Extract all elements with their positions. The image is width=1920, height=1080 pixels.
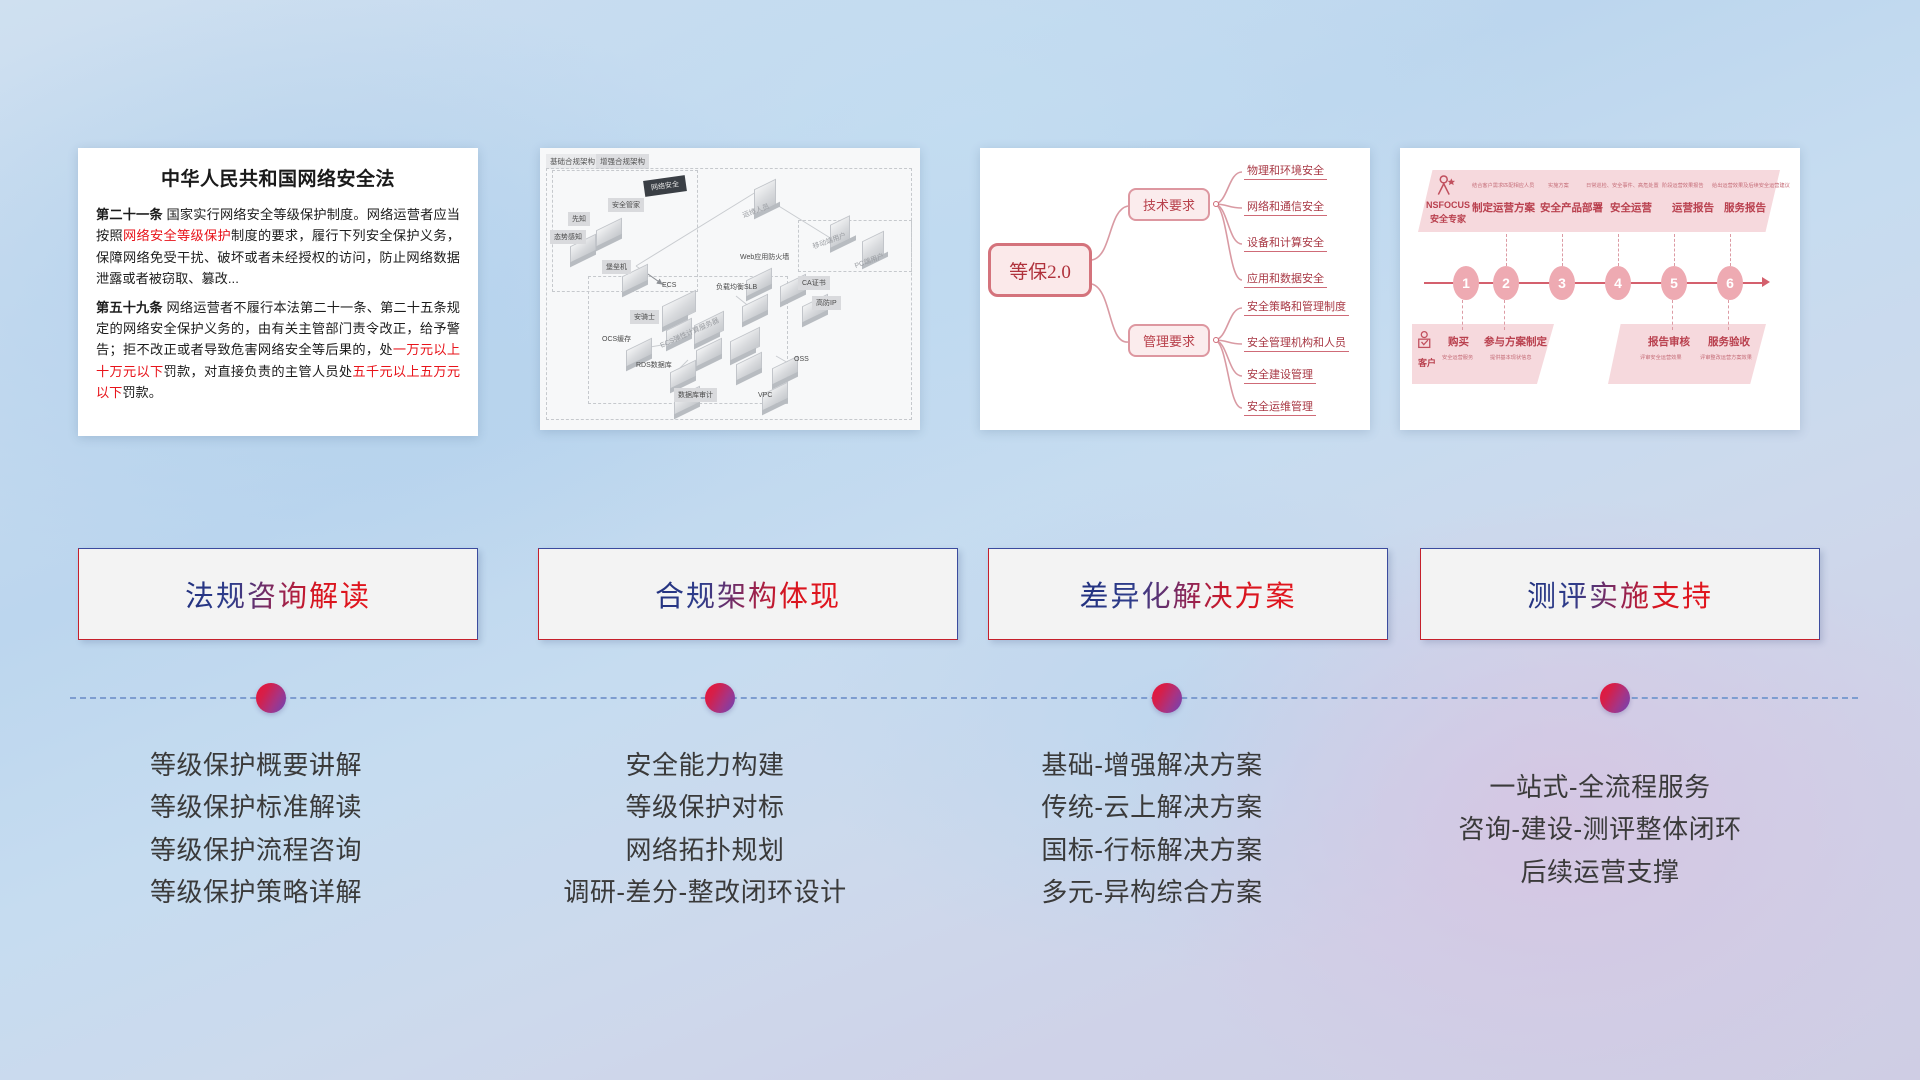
- mindmap-leaf-network: 网络和通信安全: [1244, 198, 1327, 216]
- list-item: 咨询-建设-测评整体闭环: [1415, 808, 1785, 850]
- top-title-1: 制定运营方案: [1472, 200, 1535, 215]
- bottom-title-4: 服务验收: [1708, 334, 1750, 349]
- connector-top-5: [1674, 234, 1675, 266]
- top-title-3: 安全运营: [1610, 200, 1652, 215]
- article-21-highlight: 网络安全等级保护: [123, 228, 231, 243]
- mindmap-leaf-org: 安全管理机构和人员: [1244, 334, 1349, 352]
- list-column-4: 一站式-全流程服务 咨询-建设-测评整体闭环 后续运营支撑: [1415, 766, 1785, 893]
- arch-label-waf: Web应用防火墙: [740, 252, 789, 262]
- list-column-1: 等级保护概要讲解 等级保护标准解读 等级保护流程咨询 等级保护策略详解: [71, 744, 441, 914]
- timeline-marker-2[interactable]: [705, 683, 735, 713]
- bottom-sub-3: 评审安全运营效果: [1640, 354, 1682, 361]
- card-mindmap: 等保2.0 技术要求 物理和环境安全 网络和通信安全 设备和计算安全 应用和数据…: [980, 148, 1370, 430]
- connector-top-2: [1506, 234, 1507, 266]
- article-21-label: 第二十一条: [96, 207, 163, 222]
- timeline-node-4: 4: [1605, 266, 1631, 300]
- list-item: 后续运营支撑: [1415, 851, 1785, 893]
- arch-label-dbaudit: 数据库审计: [674, 388, 717, 402]
- customer-person-icon: [1416, 328, 1438, 354]
- timeline-node-5: 5: [1661, 266, 1687, 300]
- mindmap-canvas: 等保2.0 技术要求 物理和环境安全 网络和通信安全 设备和计算安全 应用和数据…: [980, 148, 1370, 430]
- mindmap-leaf-physical: 物理和环境安全: [1244, 162, 1327, 180]
- top-title-4: 运营报告: [1672, 200, 1714, 215]
- bottom-title-2: 参与方案制定: [1484, 334, 1547, 349]
- arch-label-rds: RDS数据库: [636, 360, 672, 370]
- card-service-timeline: NSFOCUS 安全专家 客户 结合客户需求匹配相应人员 制定运营方案 实施方案…: [1400, 148, 1800, 430]
- title-label-3: 差异化解决方案: [1079, 573, 1296, 615]
- top-title-2: 安全产品部署: [1540, 200, 1603, 215]
- connector-bottom-5: [1672, 300, 1673, 330]
- connector-top-3: [1562, 234, 1563, 266]
- mindmap-leaf-construction: 安全建设管理: [1244, 366, 1316, 384]
- law-title: 中华人民共和国网络安全法: [96, 164, 460, 191]
- title-box-differentiated-solution[interactable]: 差异化解决方案: [988, 548, 1388, 640]
- timeline-node-2: 2: [1493, 266, 1519, 300]
- timeline-node-1: 1: [1453, 266, 1479, 300]
- timeline-arrow-icon: [1762, 277, 1770, 287]
- mindmap-dot-management: [1213, 337, 1219, 343]
- arch-label-gaofang: 高防IP: [812, 296, 841, 310]
- top-sub-5: 给出运营效果及后续安全运营建议: [1712, 182, 1790, 189]
- law-article-59: 第五十九条 网络运营者不履行本法第二十一条、第二十五条规定的网络安全保护义务的，…: [96, 297, 460, 404]
- mindmap-branch-management: 管理要求: [1128, 324, 1210, 357]
- vendor-label-line2: 安全专家: [1430, 212, 1466, 225]
- timeline-node-6: 6: [1717, 266, 1743, 300]
- mindmap-leaf-application: 应用和数据安全: [1244, 270, 1327, 288]
- list-item: 国标-行标解决方案: [967, 829, 1337, 871]
- cards-row: 中华人民共和国网络安全法 第二十一条 国家实行网络安全等级保护制度。网络运营者应…: [0, 148, 1920, 448]
- top-sub-3: 日常巡检、安全事件、高危处置: [1586, 182, 1659, 189]
- list-item: 安全能力构建: [520, 744, 890, 786]
- timeline-marker-1[interactable]: [256, 683, 286, 713]
- arch-label-anquanguanjia: 安全管家: [608, 198, 644, 212]
- article-59-text-b: 罚款，对直接负责的主管人员处: [163, 364, 352, 379]
- timeline-marker-4[interactable]: [1600, 683, 1630, 713]
- slide-root: 中华人民共和国网络安全法 第二十一条 国家实行网络安全等级保护制度。网络运营者应…: [0, 0, 1920, 1080]
- timeline-marker-3[interactable]: [1152, 683, 1182, 713]
- connector-top-4: [1618, 234, 1619, 266]
- mindmap-root: 等保2.0: [988, 243, 1092, 297]
- mindmap-leaf-policy: 安全策略和管理制度: [1244, 298, 1349, 316]
- list-item: 基础-增强解决方案: [967, 744, 1337, 786]
- customer-label: 客户: [1418, 356, 1436, 369]
- connector-top-6: [1730, 234, 1731, 266]
- arch-label-xianzhi: 先知: [568, 212, 590, 226]
- list-item: 一站式-全流程服务: [1415, 766, 1785, 808]
- list-item: 等级保护流程咨询: [71, 829, 441, 871]
- timeline-node-3: 3: [1549, 266, 1575, 300]
- title-box-regulation-consulting[interactable]: 法规咨询解读: [78, 548, 478, 640]
- vendor-person-icon: [1434, 174, 1460, 200]
- list-item: 等级保护对标: [520, 786, 890, 828]
- title-label-2: 合规架构体现: [655, 573, 841, 615]
- list-item: 调研-差分-整改闭环设计: [520, 871, 890, 913]
- bottom-title-1: 购买: [1448, 334, 1469, 349]
- top-sub-2: 实施方案: [1548, 182, 1569, 189]
- arch-label-shishiganzhi: 态势感知: [550, 230, 586, 244]
- arch-label-anqishi: 安骑士: [630, 310, 659, 324]
- list-column-3: 基础-增强解决方案 传统-云上解决方案 国标-行标解决方案 多元-异构综合方案: [967, 744, 1337, 914]
- arch-label-ca: CA证书: [798, 276, 830, 290]
- top-sub-1: 结合客户需求匹配相应人员: [1472, 182, 1534, 189]
- service-timeline-canvas: NSFOCUS 安全专家 客户 结合客户需求匹配相应人员 制定运营方案 实施方案…: [1400, 148, 1800, 430]
- card-architecture-diagram: 基础合规架构 增强合规架构: [540, 148, 920, 430]
- dashed-timeline: [70, 697, 1858, 699]
- arch-label-ocs: OCS缓存: [602, 334, 631, 344]
- title-box-assessment-support[interactable]: 测评实施支持: [1420, 548, 1820, 640]
- mindmap-dot-technical: [1213, 201, 1219, 207]
- mindmap-leaf-device: 设备和计算安全: [1244, 234, 1327, 252]
- connector-bottom-2: [1504, 300, 1505, 330]
- list-item: 多元-异构综合方案: [967, 871, 1337, 913]
- connector-bottom-1: [1462, 300, 1463, 330]
- arch-label-vpc: VPC: [758, 392, 772, 399]
- vendor-label-line1: NSFOCUS: [1426, 200, 1470, 210]
- list-item: 等级保护策略详解: [71, 871, 441, 913]
- bottom-sub-4: 评审整改运营方案效果: [1700, 354, 1752, 361]
- arch-label-ecs: ECS: [662, 282, 676, 289]
- article-59-label: 第五十九条: [96, 300, 163, 315]
- title-label-4: 测评实施支持: [1527, 573, 1713, 615]
- title-box-compliance-architecture[interactable]: 合规架构体现: [538, 548, 958, 640]
- connector-bottom-6: [1728, 300, 1729, 330]
- arch-label-slb: 负载均衡SLB: [716, 282, 757, 292]
- mindmap-branch-technical: 技术要求: [1128, 188, 1210, 221]
- law-article-21: 第二十一条 国家实行网络安全等级保护制度。网络运营者应当按照网络安全等级保护制度…: [96, 204, 460, 290]
- bottom-title-3: 报告审核: [1648, 334, 1690, 349]
- card-law-text: 中华人民共和国网络安全法 第二十一条 国家实行网络安全等级保护制度。网络运营者应…: [78, 148, 478, 436]
- mindmap-leaf-operations: 安全运维管理: [1244, 398, 1316, 416]
- list-item: 网络拓扑规划: [520, 829, 890, 871]
- arch-label-baoleiji: 堡垒机: [602, 260, 631, 274]
- list-item: 等级保护概要讲解: [71, 744, 441, 786]
- arch-label-oss: OSS: [794, 356, 809, 363]
- bottom-sub-2: 提供基本现状信息: [1490, 354, 1532, 361]
- list-item: 等级保护标准解读: [71, 786, 441, 828]
- title-label-1: 法规咨询解读: [185, 573, 371, 615]
- top-sub-4: 阶段运营效果报告: [1662, 182, 1704, 189]
- list-item: 传统-云上解决方案: [967, 786, 1337, 828]
- top-title-5: 服务报告: [1724, 200, 1766, 215]
- bottom-sub-1: 安全运营服务: [1442, 354, 1473, 361]
- article-59-text-c: 罚款。: [122, 385, 162, 400]
- list-column-2: 安全能力构建 等级保护对标 网络拓扑规划 调研-差分-整改闭环设计: [520, 744, 890, 914]
- architecture-canvas: 基础合规架构 增强合规架构: [540, 148, 920, 430]
